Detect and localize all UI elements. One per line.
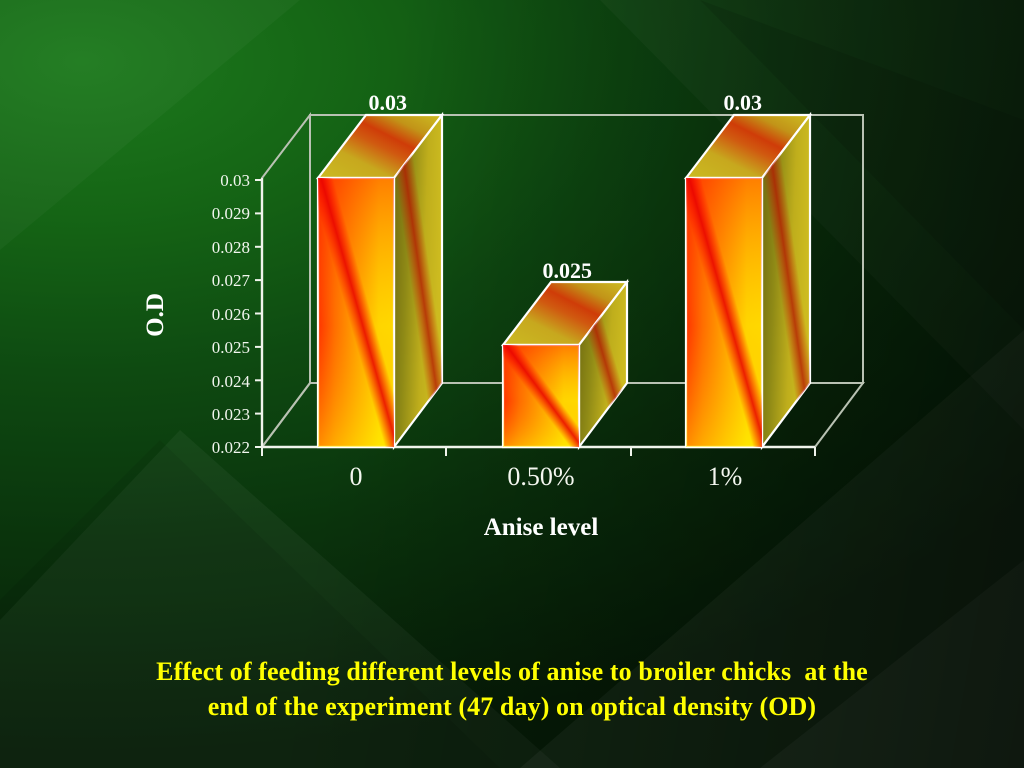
y-axis: 0.03 0.029 0.028 0.027 0.026 0.025 0.024… xyxy=(142,171,262,457)
y-tick-label: 0.03 xyxy=(220,171,250,190)
bar-column-2[interactable] xyxy=(503,282,627,447)
y-axis-title: O.D xyxy=(142,293,169,337)
slide-caption: Effect of feeding different levels of an… xyxy=(0,655,1024,724)
y-tick-label: 0.027 xyxy=(212,271,251,290)
caption-line-1: Effect of feeding different levels of an… xyxy=(0,655,1024,690)
y-tick-label: 0.024 xyxy=(212,372,251,391)
x-tick-label-0: 0 xyxy=(350,462,363,491)
bar-value-label-2: 0.025 xyxy=(543,258,593,283)
slide-canvas: 0.03 0.029 0.028 0.027 0.026 0.025 0.024… xyxy=(0,0,1024,768)
y-tick-label: 0.025 xyxy=(212,338,250,357)
bar-value-label-1: 0.03 xyxy=(369,90,408,115)
y-tick-label: 0.028 xyxy=(212,238,250,257)
x-tick-label-1: 0.50% xyxy=(507,462,574,491)
bar-column-1[interactable] xyxy=(318,115,442,447)
x-axis-title: Anise level xyxy=(484,514,599,541)
bar-value-label-3: 0.03 xyxy=(724,90,763,115)
x-axis: 0 0.50% 1% Anise level xyxy=(262,447,815,541)
y-tick-label: 0.029 xyxy=(212,204,250,223)
y-tick-label: 0.026 xyxy=(212,305,250,324)
bar-column-3[interactable] xyxy=(686,115,810,447)
x-tick-label-2: 1% xyxy=(708,462,743,491)
y-tick-label: 0.022 xyxy=(212,438,250,457)
od-bar-chart[interactable]: 0.03 0.029 0.028 0.027 0.026 0.025 0.024… xyxy=(0,0,1024,620)
y-tick-label: 0.023 xyxy=(212,405,250,424)
caption-line-2: end of the experiment (47 day) on optica… xyxy=(0,690,1024,725)
